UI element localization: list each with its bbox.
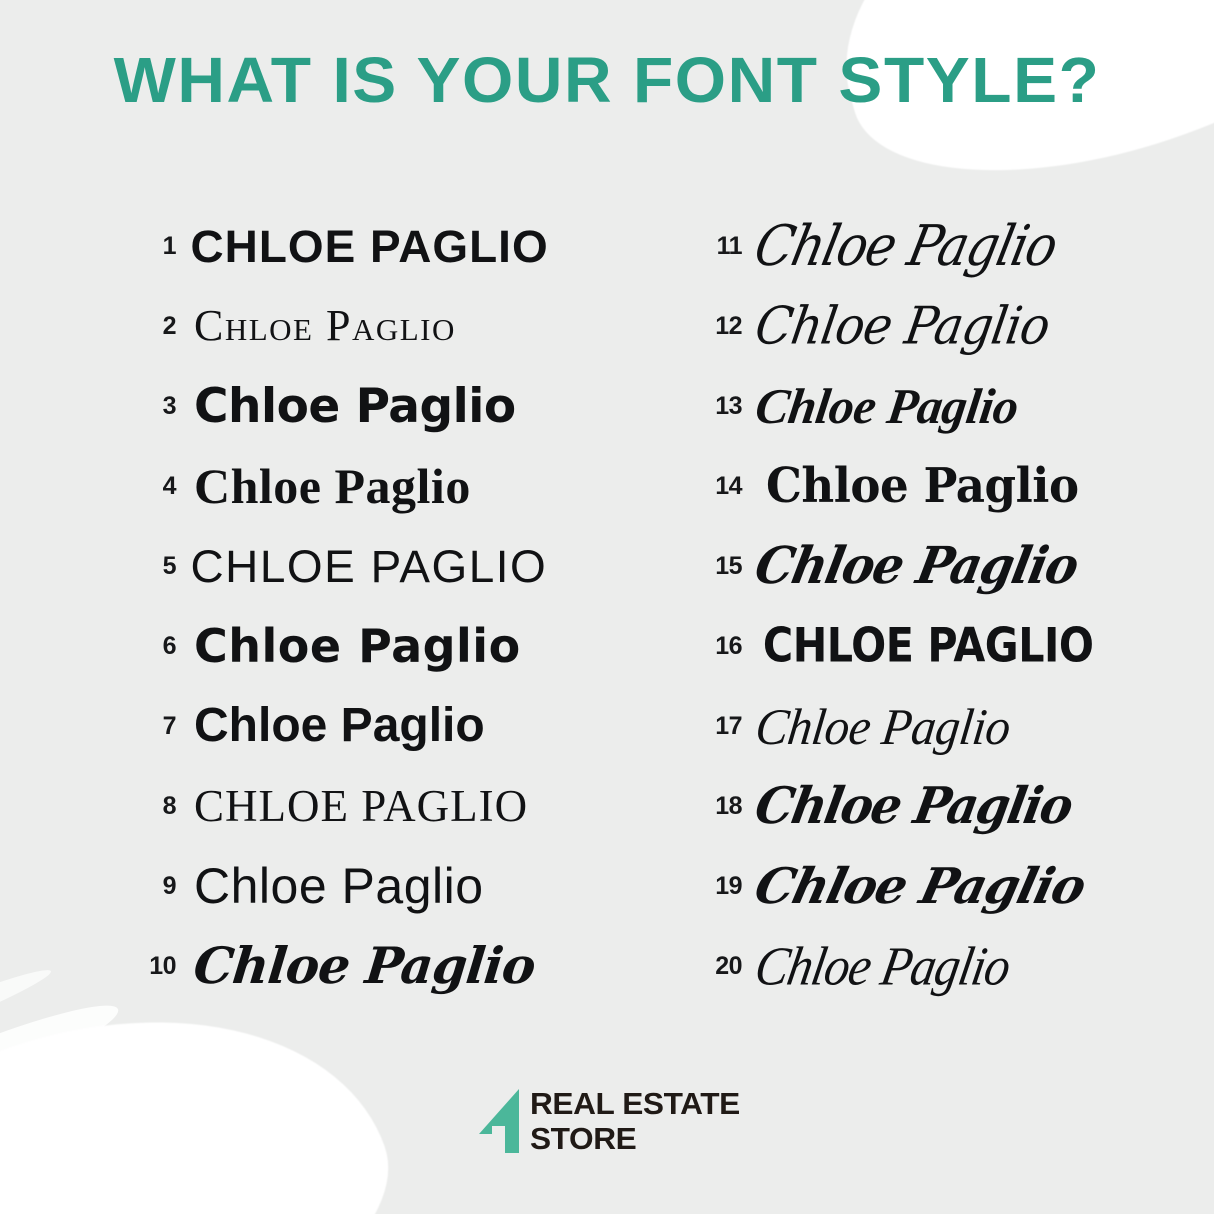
font-option-11[interactable]: 11 Chloe Paglio [690, 206, 1120, 286]
font-sample-text: CHLOE PAGLIO [191, 544, 548, 589]
font-sample-text: Chloe Paglio [194, 702, 485, 750]
font-sample-text: CHLOE PAGLIO [763, 622, 1094, 669]
font-option-17[interactable]: 17 Chloe Paglio [690, 686, 1120, 766]
font-sample-text: Chloe Paglio [750, 862, 1089, 911]
font-option-number: 1 [128, 232, 176, 261]
font-sample-text: Chloe Paglio [194, 461, 471, 511]
page-title: WHAT IS YOUR FONT STYLE? [0, 48, 1214, 112]
font-sample-text: Chloe Paglio [194, 304, 456, 348]
font-sample-text: Chloe Paglio [752, 381, 1021, 431]
font-option-number: 19 [690, 872, 742, 901]
font-option-9[interactable]: 9 Chloe Paglio [128, 846, 658, 926]
font-sample-text: Chloe Paglio [194, 383, 516, 430]
font-sample-text: Chloe Paglio [766, 462, 1079, 510]
font-option-number: 16 [690, 632, 742, 661]
font-sample-text: Chloe Paglio [751, 541, 1081, 592]
font-option-number: 10 [128, 952, 176, 981]
font-option-3[interactable]: 3 Chloe Paglio [128, 366, 658, 446]
font-option-number: 9 [128, 872, 176, 901]
font-style-list: 1 CHLOE PAGLIO 2 Chloe Paglio 3 Chloe Pa… [0, 206, 1214, 1026]
font-sample-text: Chloe Paglio [194, 623, 521, 669]
font-option-18[interactable]: 18 Chloe Paglio [690, 766, 1120, 846]
font-option-14[interactable]: 14 Chloe Paglio [690, 446, 1120, 526]
font-sample-text: Chloe Paglio [194, 784, 528, 829]
brand-logo-line-1: REAL ESTATE [530, 1088, 740, 1119]
font-option-1[interactable]: 1 CHLOE PAGLIO [128, 206, 658, 286]
brand-logo-line-2: STORE [530, 1123, 740, 1154]
poster-canvas: WHAT IS YOUR FONT STYLE? 1 CHLOE PAGLIO … [0, 0, 1214, 1214]
font-sample-text: Chloe Paglio [191, 941, 537, 991]
font-sample-text: Chloe Paglio [753, 700, 1013, 751]
brand-logo[interactable]: REAL ESTATE STORE [0, 1088, 1214, 1154]
font-option-15[interactable]: 15 Chloe Paglio [690, 526, 1120, 606]
font-sample-text: CHLOE PAGLIO [190, 224, 548, 269]
font-option-number: 18 [690, 792, 742, 821]
brand-logo-inner: REAL ESTATE STORE [478, 1088, 736, 1154]
font-option-number: 15 [690, 552, 742, 581]
font-option-16[interactable]: 16 CHLOE PAGLIO [690, 606, 1120, 686]
font-option-5[interactable]: 5 CHLOE PAGLIO [128, 526, 658, 606]
font-option-number: 4 [128, 472, 176, 501]
font-option-number: 2 [128, 312, 176, 341]
font-sample-text: Chloe Paglio [750, 218, 1061, 274]
font-option-4[interactable]: 4 Chloe Paglio [128, 446, 658, 526]
font-option-10[interactable]: 10 Chloe Paglio [128, 926, 658, 1006]
font-option-number: 20 [690, 952, 742, 981]
brand-logo-text: REAL ESTATE STORE [530, 1088, 736, 1154]
font-option-number: 14 [690, 472, 742, 501]
font-option-20[interactable]: 20 Chloe Paglio [690, 926, 1120, 1006]
font-sample-text: Chloe Paglio [751, 939, 1014, 994]
font-option-2[interactable]: 2 Chloe Paglio [128, 286, 658, 366]
font-option-12[interactable]: 12 Chloe Paglio [690, 286, 1120, 366]
font-option-number: 6 [128, 632, 176, 661]
font-list-right-column: 11 Chloe Paglio 12 Chloe Paglio 13 Chloe… [690, 206, 1120, 1026]
font-option-number: 8 [128, 792, 176, 821]
font-option-number: 13 [690, 392, 742, 421]
font-list-left-column: 1 CHLOE PAGLIO 2 Chloe Paglio 3 Chloe Pa… [128, 206, 658, 1026]
font-sample-text: Chloe Paglio [194, 861, 484, 911]
font-option-6[interactable]: 6 Chloe Paglio [128, 606, 658, 686]
font-option-number: 7 [128, 712, 176, 741]
font-option-number: 11 [690, 232, 742, 261]
font-option-7[interactable]: 7 Chloe Paglio [128, 686, 658, 766]
font-sample-text: Chloe Paglio [752, 781, 1075, 831]
font-option-19[interactable]: 19 Chloe Paglio [690, 846, 1120, 926]
font-option-number: 5 [128, 552, 176, 581]
font-option-13[interactable]: 13 Chloe Paglio [690, 366, 1120, 446]
font-option-number: 12 [690, 312, 742, 341]
house-roof-icon [478, 1088, 520, 1154]
font-option-number: 17 [690, 712, 742, 741]
font-option-8[interactable]: 8 Chloe Paglio [128, 766, 658, 846]
font-sample-text: Chloe Paglio [752, 300, 1053, 352]
font-option-number: 3 [128, 392, 176, 421]
